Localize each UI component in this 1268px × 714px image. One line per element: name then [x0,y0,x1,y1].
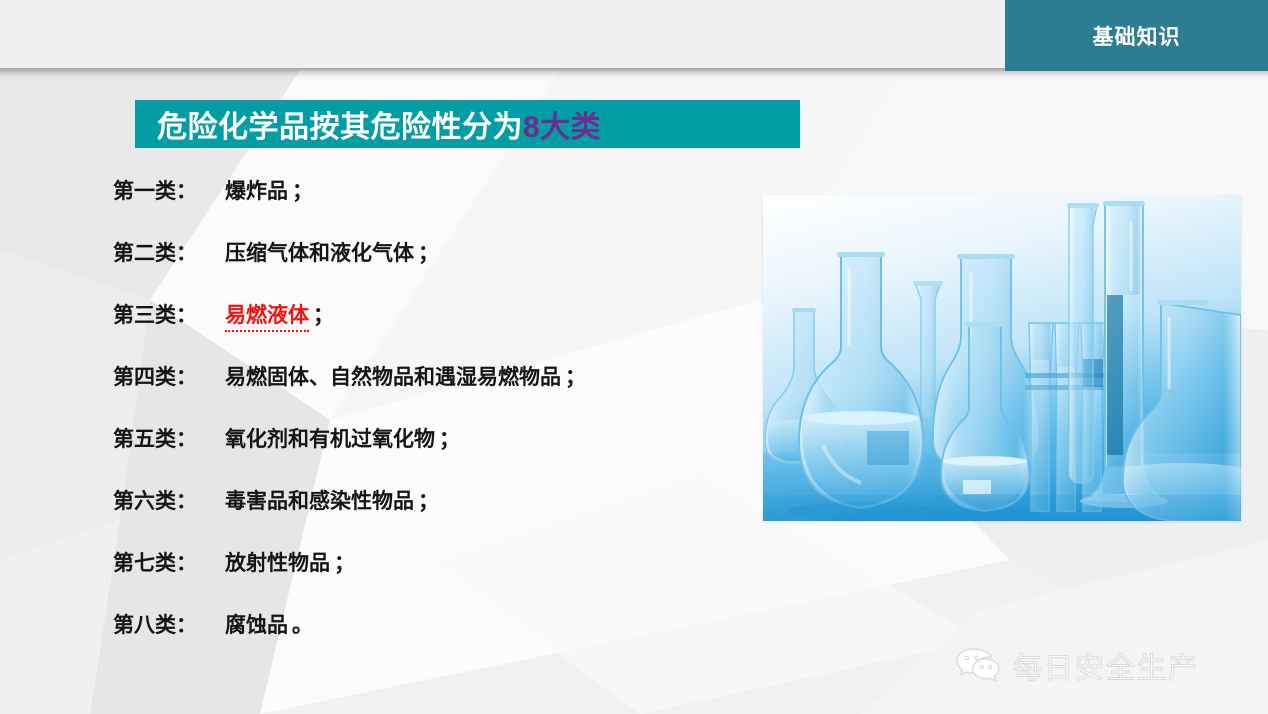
category-value-emphasized: 易燃液体 [225,299,309,332]
category-terminator: ； [334,547,355,577]
category-value: 压缩气体和液化气体 [225,237,414,267]
category-terminator: ； [418,237,439,267]
category-value: 爆炸品 [225,175,288,205]
category-terminator: ； [418,485,439,515]
category-label: 第四类： [113,361,225,391]
list-item: 第五类： 氧化剂和有机过氧化物 ； [113,423,773,485]
list-item: 第二类： 压缩气体和液化气体 ； [113,237,773,299]
list-item: 第一类： 爆炸品 ； [113,175,773,237]
watermark-label: 每日安全生产 [1013,645,1199,687]
category-label: 第六类： [113,485,225,515]
category-terminator: ； [439,423,460,453]
banner-text-highlight: 8大类 [523,111,601,144]
category-value: 氧化剂和有机过氧化物 [225,423,435,453]
category-value: 毒害品和感染性物品 [225,485,414,515]
glassware-illustration [763,195,1241,521]
glassware-photo [763,195,1241,521]
category-terminator: ； [565,361,586,391]
wechat-icon [955,646,1001,687]
section-badge: 基础知识 [1005,0,1268,71]
section-banner: 危险化学品按其危险性分为8大类 [135,100,800,148]
category-label: 第七类： [113,547,225,577]
category-terminator: ； [292,175,313,205]
watermark: 每日安全生产 [955,640,1255,692]
category-terminator: 。 [292,609,313,639]
list-item: 第四类： 易燃固体、自然物品和遇湿易燃物品 ； [113,361,773,423]
list-item: 第三类： 易燃液体 ； [113,299,773,361]
banner-text-main: 危险化学品按其危险性分为 [157,111,523,144]
category-label: 第一类： [113,175,225,205]
list-item: 第七类： 放射性物品 ； [113,547,773,609]
category-label: 第二类： [113,237,225,267]
category-label: 第三类： [113,299,225,329]
category-value: 放射性物品 [225,547,330,577]
list-item: 第八类： 腐蚀品 。 [113,609,773,671]
category-list: 第一类： 爆炸品 ； 第二类： 压缩气体和液化气体 ； 第三类： 易燃液体 ； … [113,175,773,671]
list-item: 第六类： 毒害品和感染性物品 ； [113,485,773,547]
banner-text: 危险化学品按其危险性分为8大类 [157,102,601,146]
category-label: 第八类： [113,609,225,639]
category-terminator: ； [313,299,334,329]
category-value: 易燃固体、自然物品和遇湿易燃物品 [225,361,561,391]
category-label: 第五类： [113,423,225,453]
slide-canvas: 危险化学品的分类 基础知识 危险化学品按其危险性分为8大类 第一类： 爆炸品 ；… [0,0,1268,714]
category-value: 腐蚀品 [225,609,288,639]
